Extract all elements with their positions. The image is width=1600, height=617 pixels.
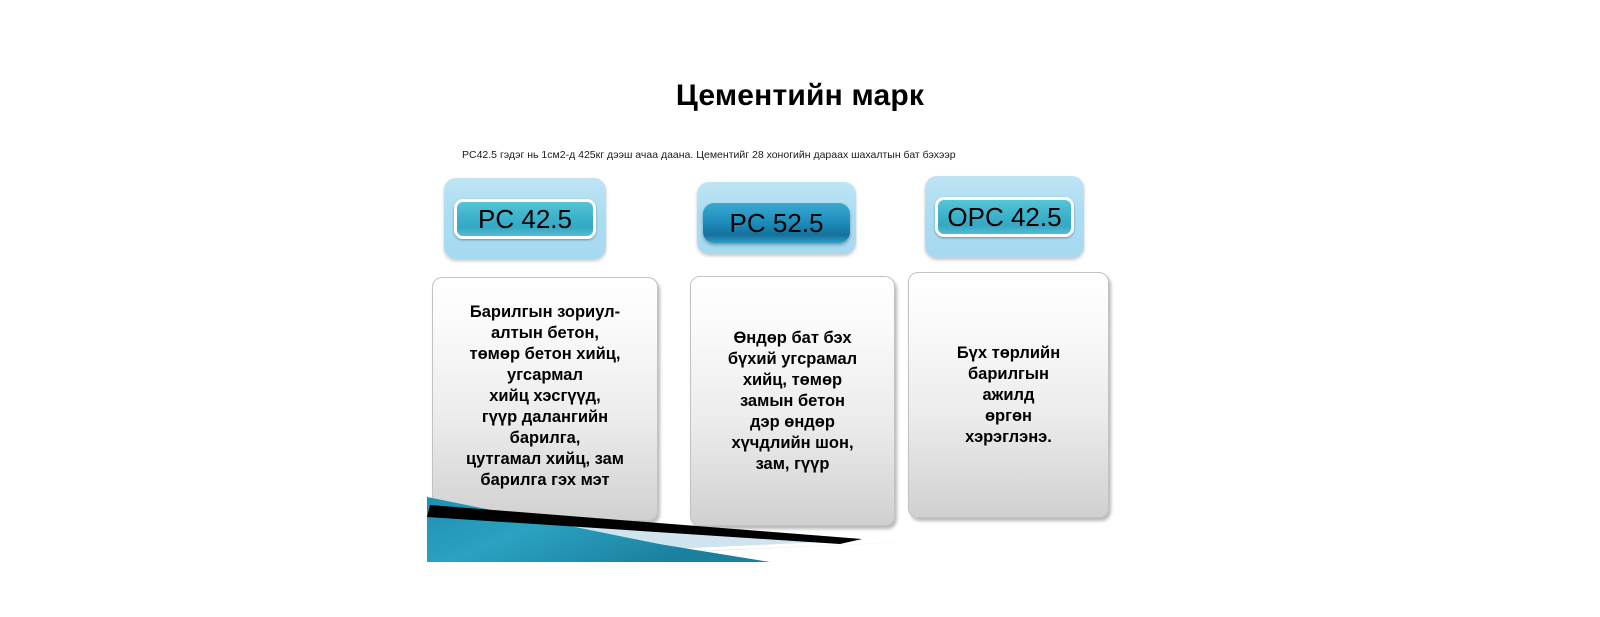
badge-pc-52-5[interactable]: PC 52.5 — [697, 182, 856, 254]
badge-pc-52-5-inner: PC 52.5 — [703, 203, 850, 243]
slide-subtitle-note: PC42.5 гэдэг нь 1см2-д 425кг дээш ачаа д… — [462, 149, 1082, 162]
slide-canvas: Цементийн марк PC42.5 гэдэг нь 1см2-д 42… — [0, 0, 1600, 617]
description-card-pc-42-5: Барилгын зориул- алтын бетон, төмөр бето… — [432, 277, 658, 521]
badge-pc-52-5-label: PC 52.5 — [730, 209, 824, 237]
page-title: Цементийн марк — [400, 78, 1200, 114]
description-card-opc-42-5-text: Бүх төрлийн барилгын ажилд өргөн хэрэглэ… — [947, 343, 1070, 448]
badge-opc-42-5-inner: OPC 42.5 — [935, 197, 1074, 237]
badge-opc-42-5[interactable]: OPC 42.5 — [925, 176, 1084, 258]
badge-pc-42-5-label: PC 42.5 — [478, 205, 572, 233]
badge-pc-42-5[interactable]: PC 42.5 — [444, 178, 606, 259]
description-card-pc-52-5-text: Өндөр бат бэх бүхий угсрамал хийц, төмөр… — [718, 328, 867, 475]
description-card-pc-42-5-text: Барилгын зориул- алтын бетон, төмөр бето… — [456, 302, 634, 491]
badge-pc-42-5-inner: PC 42.5 — [454, 199, 596, 239]
description-card-opc-42-5: Бүх төрлийн барилгын ажилд өргөн хэрэглэ… — [908, 272, 1109, 518]
badge-opc-42-5-label: OPC 42.5 — [947, 203, 1061, 231]
description-card-pc-52-5: Өндөр бат бэх бүхий угсрамал хийц, төмөр… — [690, 276, 895, 526]
